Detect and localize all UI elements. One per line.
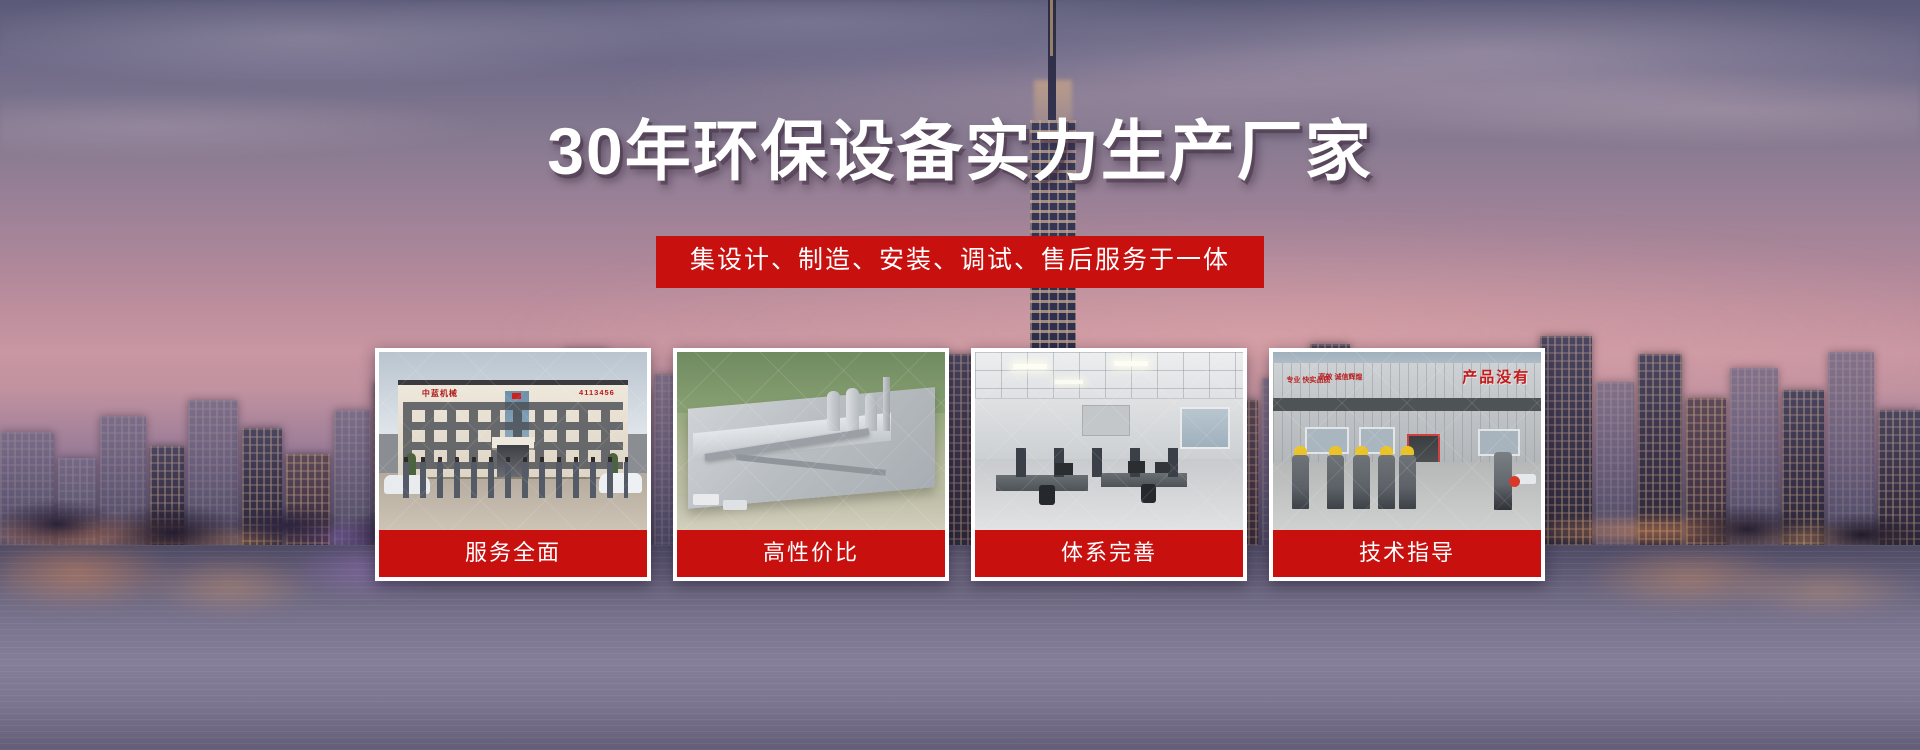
card-photo-office-interior <box>975 352 1243 530</box>
factory-sign-text: 产品没有 <box>1462 366 1530 387</box>
card-photo-factory-workers: 产品没有 专业 快实品质 高效 诚信辉煌 <box>1273 352 1541 530</box>
feature-card-list: 中蓝机械 4113456 服务全面 <box>375 348 1545 581</box>
card-caption: 技术指导 <box>1273 530 1541 577</box>
feature-card[interactable]: 中蓝机械 4113456 服务全面 <box>375 348 651 581</box>
feature-card[interactable]: 高性价比 <box>673 348 949 581</box>
subtitle-banner: 集设计、制造、安装、调试、售后服务于一体 <box>656 236 1264 288</box>
building-sign-text: 中蓝机械 <box>422 388 458 399</box>
banner-content: 30年环保设备实力生产厂家 集设计、制造、安装、调试、售后服务于一体 <box>0 0 1920 750</box>
factory-slogan-right: 高效 诚信辉煌 <box>1319 372 1363 382</box>
feature-card[interactable]: 产品没有 专业 快实品质 高效 诚信辉煌 技术指导 <box>1269 348 1545 581</box>
banner-headline: 30年环保设备实力生产厂家 <box>0 118 1920 184</box>
building-phone-number: 4113456 <box>579 388 615 397</box>
card-photo-office-building: 中蓝机械 4113456 <box>379 352 647 530</box>
subtitle-text: 集设计、制造、安装、调试、售后服务于一体 <box>690 247 1230 275</box>
card-caption: 体系完善 <box>975 530 1243 577</box>
card-caption: 高性价比 <box>677 530 945 577</box>
feature-card[interactable]: 体系完善 <box>971 348 1247 581</box>
hero-banner: 30年环保设备实力生产厂家 集设计、制造、安装、调试、售后服务于一体 <box>0 0 1920 750</box>
card-photo-aerial-plant <box>677 352 945 530</box>
card-caption: 服务全面 <box>379 530 647 577</box>
